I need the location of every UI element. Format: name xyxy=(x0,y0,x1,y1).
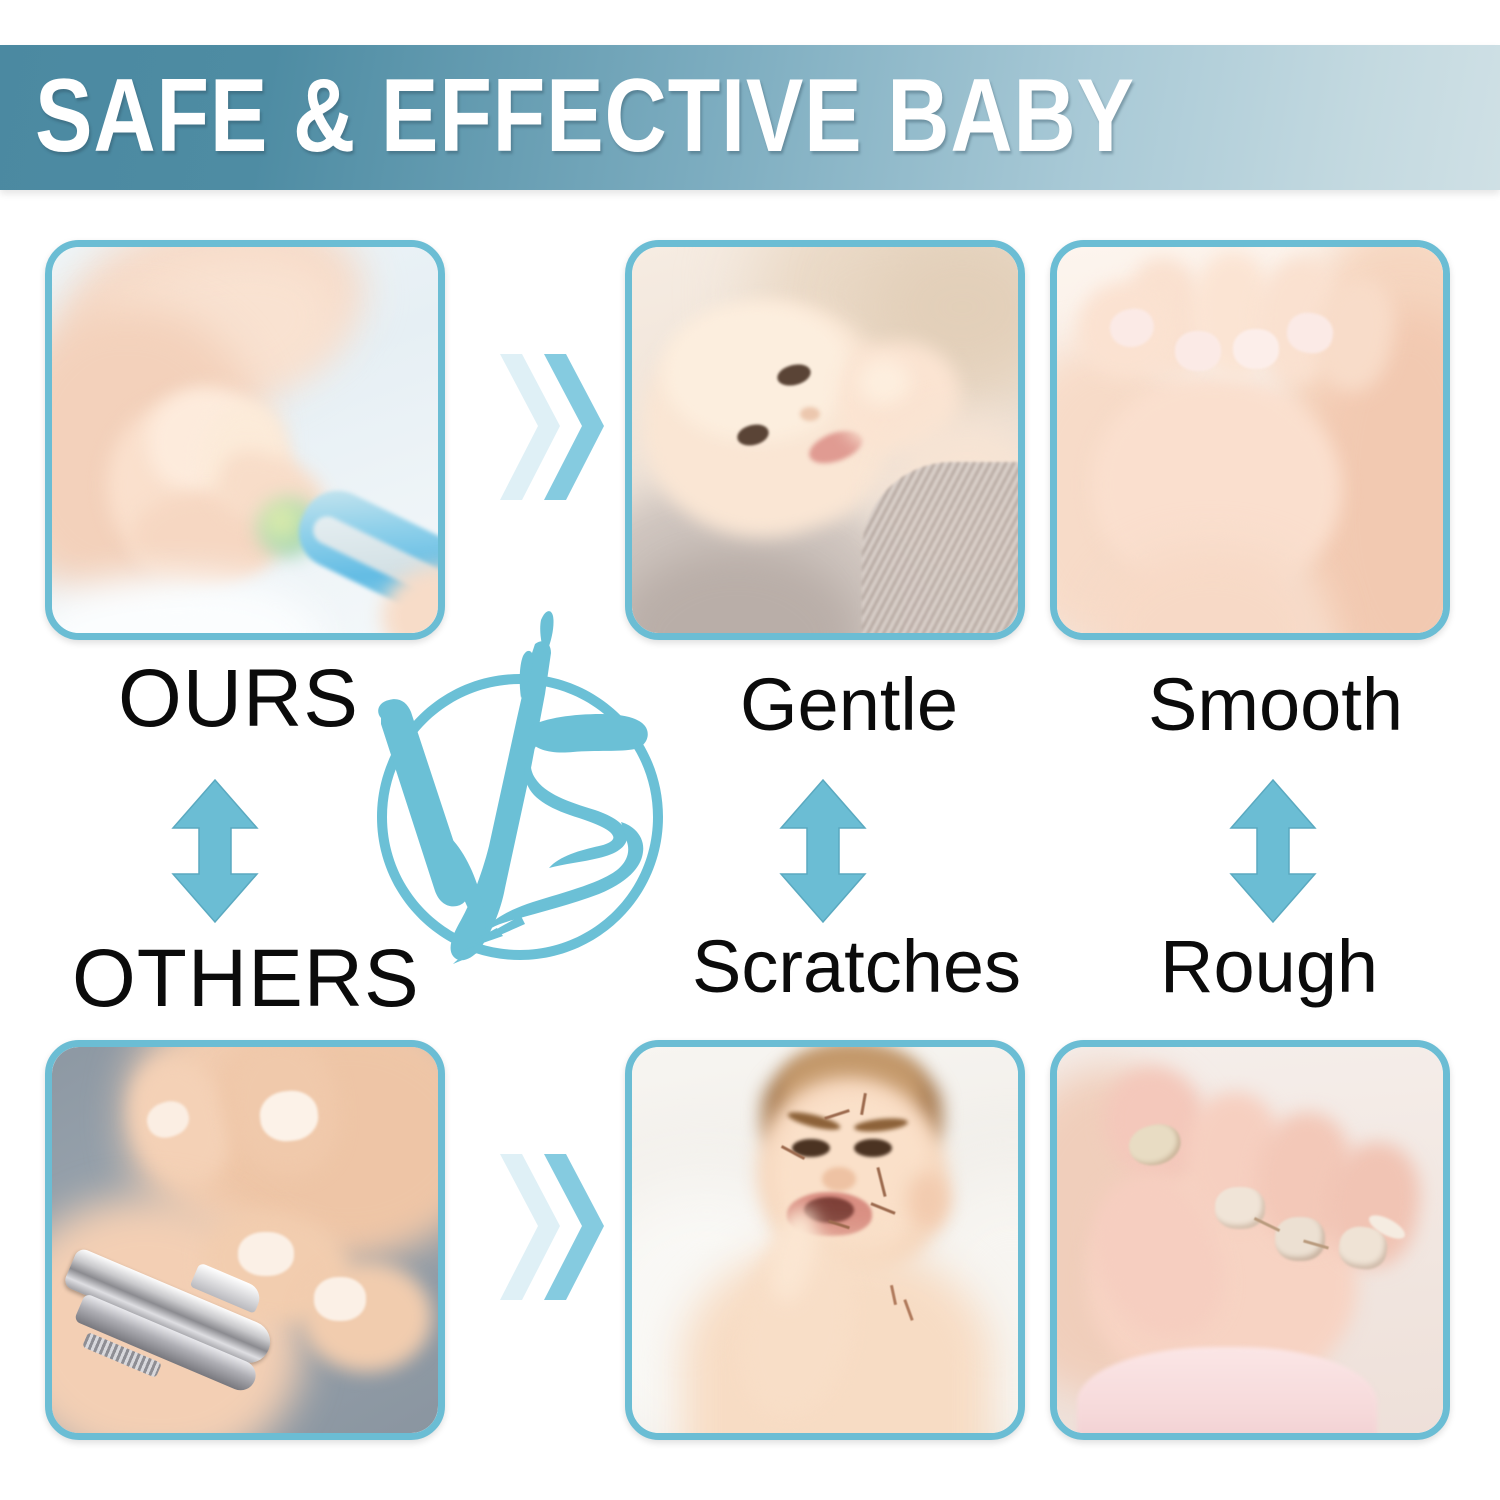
chevron-right-double-icon-top xyxy=(492,348,612,508)
caption-gentle: Gentle xyxy=(740,668,958,742)
photo-rough-nails xyxy=(1057,1047,1443,1433)
baby-nail xyxy=(1233,329,1279,369)
caption-rough: Rough xyxy=(1160,930,1378,1004)
rough-nail xyxy=(1275,1217,1325,1261)
header-banner: SAFE & EFFECTIVE BABY xyxy=(0,45,1500,190)
side-label-others: OTHERS xyxy=(72,938,420,1020)
baby-shirt xyxy=(862,462,1018,633)
baby-nail xyxy=(1175,331,1221,371)
side-label-ours: OURS xyxy=(118,658,359,740)
arrow-up-down-icon-gentle xyxy=(776,778,870,924)
gentle-photo xyxy=(625,240,1025,640)
caption-scratches: Scratches xyxy=(692,930,1021,1004)
photo-ours-trimmer xyxy=(52,247,438,633)
smooth-photo xyxy=(1050,240,1450,640)
photo-smooth-nails xyxy=(1057,247,1443,633)
ours-product-photo xyxy=(45,240,445,640)
photo-metal-clipper xyxy=(52,1047,438,1433)
arrow-up-down-icon-smooth xyxy=(1226,778,1320,924)
rough-nail xyxy=(1215,1187,1265,1229)
photo-crying-baby xyxy=(632,1047,1018,1433)
scratches-photo xyxy=(625,1040,1025,1440)
arrow-up-down-icon-ours xyxy=(168,778,262,924)
photo-happy-baby xyxy=(632,247,1018,633)
chevron-right-double-icon-bottom xyxy=(492,1148,612,1308)
caption-smooth: Smooth xyxy=(1148,668,1403,742)
rough-photo xyxy=(1050,1040,1450,1440)
page-title: SAFE & EFFECTIVE BABY xyxy=(35,63,1135,167)
others-product-photo xyxy=(45,1040,445,1440)
